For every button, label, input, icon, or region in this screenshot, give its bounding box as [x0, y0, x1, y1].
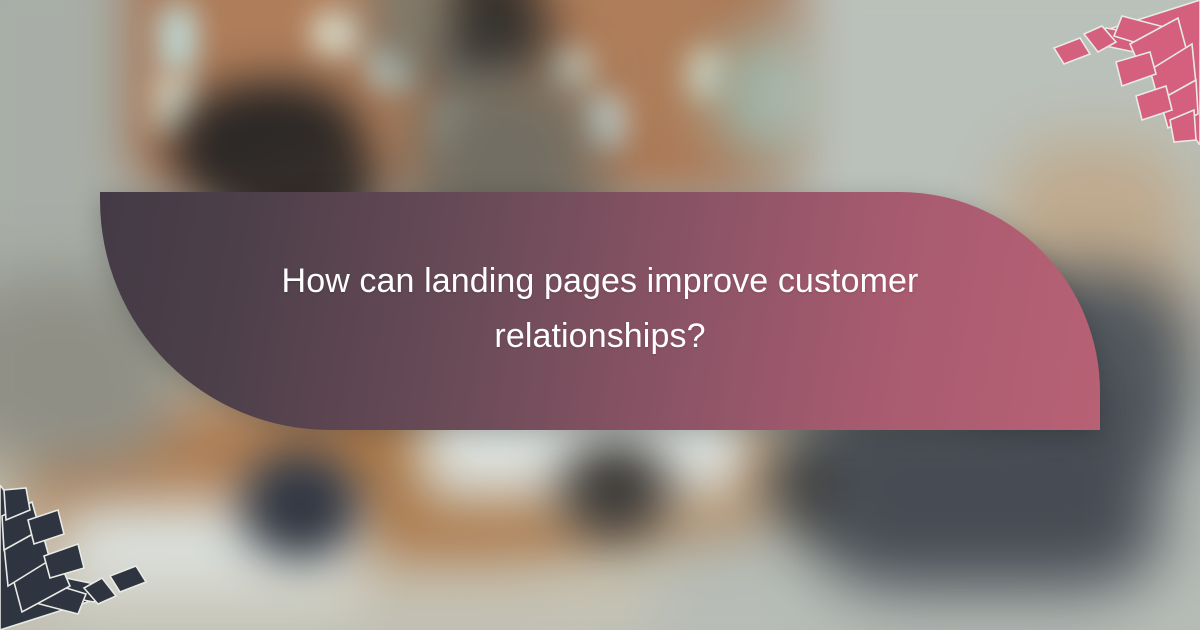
headline-banner: How can landing pages improve customer r…: [100, 192, 1100, 430]
share-card: How can landing pages improve customer r…: [0, 0, 1200, 630]
headline-text: How can landing pages improve customer r…: [190, 254, 1010, 368]
